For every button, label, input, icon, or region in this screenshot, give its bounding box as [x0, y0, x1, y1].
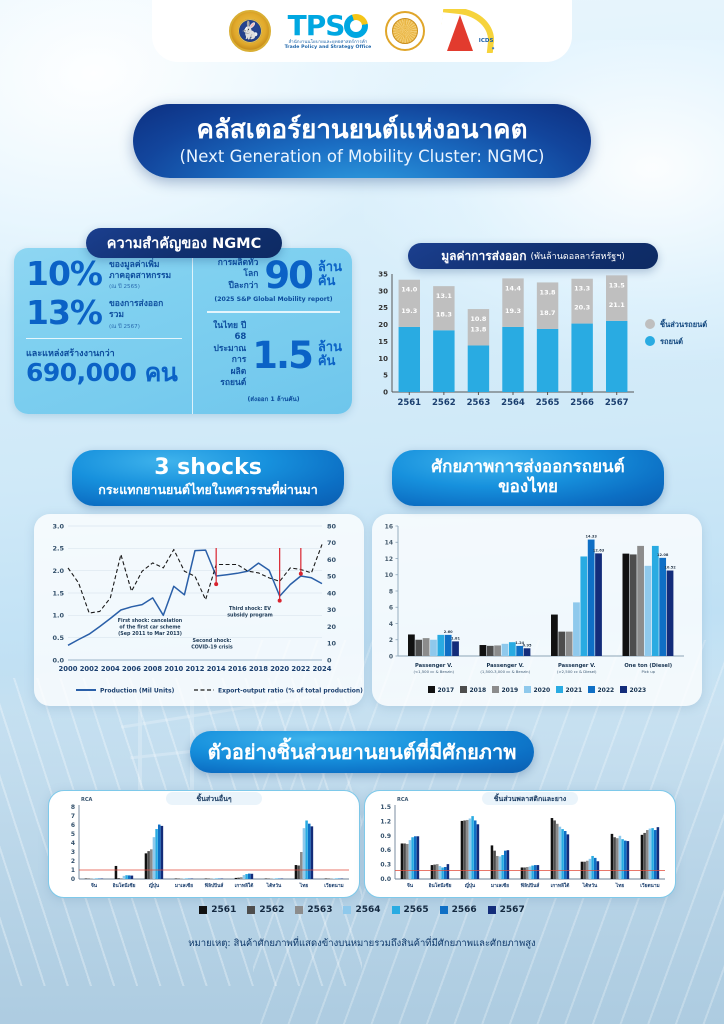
svg-text:12.63: 12.63	[593, 548, 605, 552]
rca-chart-other-parts: RCA012345678ชิ้นส่วนอื่นๆจีนอินโดนีเซียญ…	[49, 791, 361, 899]
svg-text:2.0: 2.0	[52, 567, 64, 575]
svg-text:10.52: 10.52	[664, 566, 676, 570]
svg-text:80: 80	[327, 522, 337, 530]
stat-global-unit2: คัน	[318, 275, 342, 289]
svg-text:2016: 2016	[228, 665, 247, 673]
tpso-subtitle-en: Trade Policy and Strategy Office	[285, 45, 372, 50]
svg-text:16: 16	[385, 523, 393, 530]
svg-text:2567: 2567	[605, 398, 629, 408]
svg-text:2018: 2018	[249, 665, 268, 673]
svg-text:จีน: จีน	[91, 882, 98, 889]
export-value-heading-sub: (พันล้านดอลลาร์สหรัฐฯ)	[531, 249, 625, 263]
svg-text:10: 10	[327, 640, 337, 648]
svg-text:ไต้หวัน: ไต้หวัน	[582, 882, 598, 889]
stat-global-production: การผลิตทั่วโลก ปีละกว่า 90 ล้าน คัน	[205, 258, 342, 292]
legend-label: 2564	[355, 905, 380, 915]
stat-thai-unit2: คัน	[318, 355, 342, 369]
svg-text:5: 5	[71, 831, 75, 838]
svg-text:30: 30	[327, 606, 337, 614]
legend-label: 2561	[211, 905, 236, 915]
svg-text:2019: 2019	[502, 687, 519, 694]
parts-chart-card-plastic: RCA0.00.30.60.91.21.5ชิ้นส่วนพลาสติกและย…	[364, 790, 676, 898]
stat-value-added-label1: ของมูลค่าเพิ่ม	[109, 260, 171, 271]
svg-text:18.7: 18.7	[540, 309, 556, 317]
legend-label: 2567	[500, 905, 525, 915]
legend-swatch	[343, 906, 351, 914]
svg-text:Export-output ratio (% of tota: Export-output ratio (% of total producti…	[218, 688, 363, 695]
svg-text:ญี่ปุ่น: ญี่ปุ่น	[149, 881, 160, 889]
footnote: หมายเหตุ: สินค้าศักยภาพที่แสดงข้างบนหมาย…	[0, 936, 724, 951]
svg-text:3.0: 3.0	[52, 522, 64, 530]
svg-text:จีน: จีน	[407, 882, 414, 889]
svg-text:10: 10	[378, 355, 388, 363]
svg-text:1.5: 1.5	[380, 804, 391, 811]
svg-text:RCA: RCA	[81, 797, 93, 803]
stat-value-added-label2: ภาคอุตสาหกรรม	[109, 271, 171, 282]
icds-label: ICDS	[479, 38, 494, 44]
svg-text:0: 0	[389, 653, 393, 660]
stat-thai-lead3: ผลิตรถยนต์	[205, 367, 246, 390]
svg-text:5: 5	[383, 372, 388, 380]
shocks-heading-main: 3 shocks	[154, 457, 262, 479]
svg-text:2561: 2561	[397, 398, 421, 408]
ministry-seal-icon	[385, 11, 425, 51]
tpso-brand-text: TPS	[288, 9, 345, 42]
svg-text:20: 20	[378, 321, 388, 329]
stat-global-lead1: การผลิตทั่วโลก	[205, 258, 258, 281]
svg-text:4: 4	[389, 621, 393, 628]
parts-legend-item: 2566	[440, 905, 477, 915]
legend-label: 2566	[452, 905, 477, 915]
svg-text:0.3: 0.3	[380, 862, 391, 869]
icds-sublabel: ●	[492, 46, 495, 50]
stats-divider	[26, 338, 182, 340]
svg-text:13.3: 13.3	[574, 285, 590, 293]
potential-heading-line1: ศักยภาพการส่งออกรถยนต์	[431, 458, 624, 478]
svg-text:2008: 2008	[143, 665, 162, 673]
parts-legend-item: 2562	[247, 905, 284, 915]
svg-text:19.3: 19.3	[505, 307, 521, 315]
svg-text:8: 8	[389, 588, 393, 595]
page-title-th: คลัสเตอร์ยานยนต์แห่งอนาคต	[197, 116, 528, 145]
stat-value-added-note: (ณ ปี 2565)	[109, 283, 171, 291]
svg-text:19.3: 19.3	[401, 307, 417, 315]
stat-jobs: และแหล่งสร้างงานกว่า 690,000 คน	[26, 346, 184, 386]
svg-text:2020: 2020	[534, 687, 551, 694]
page-title-en: (Next Generation of Mobility Cluster: NG…	[180, 147, 545, 166]
stat-export-share-label1: ของการส่งออก	[109, 299, 163, 310]
svg-text:4: 4	[71, 840, 75, 847]
svg-text:ชิ้นส่วนรถยนต์: ชิ้นส่วนรถยนต์	[660, 318, 707, 329]
parts-legend-item: 2564	[343, 905, 380, 915]
svg-text:0.95: 0.95	[523, 643, 532, 647]
svg-text:6: 6	[389, 605, 393, 612]
rca-chart-plastic-rubber: RCA0.00.30.60.91.21.5ชิ้นส่วนพลาสติกและย…	[365, 791, 677, 899]
legend-swatch	[247, 906, 255, 914]
svg-text:14.4: 14.4	[505, 284, 522, 292]
svg-text:เกาหลีใต้: เกาหลีใต้	[235, 882, 254, 889]
svg-text:30: 30	[378, 287, 388, 295]
stat-global-source: (2025 S&P Global Mobility report)	[205, 296, 342, 303]
svg-text:0: 0	[383, 389, 388, 397]
svg-text:70: 70	[327, 539, 337, 547]
tpso-logo: TPS สำนักงานนโยบายและยุทธศาสตร์การค้า Tr…	[285, 12, 372, 51]
svg-text:0.6: 0.6	[380, 847, 391, 854]
svg-text:21.1: 21.1	[609, 301, 626, 309]
svg-text:7: 7	[71, 813, 75, 820]
svg-text:2566: 2566	[570, 398, 594, 408]
svg-text:(1,500-3,000 cc & Benzin): (1,500-3,000 cc & Benzin)	[480, 669, 530, 674]
svg-text:2017: 2017	[438, 687, 455, 694]
stat-jobs-value: 690,000 คน	[26, 360, 184, 386]
stat-thai-number: 1.5	[252, 339, 312, 372]
legend-swatch	[392, 906, 400, 914]
stat-global-unit1: ล้าน	[318, 261, 342, 275]
shocks-chart-card: 0.00.51.01.52.02.53.00102030405060708020…	[34, 514, 364, 706]
svg-text:14.33: 14.33	[585, 535, 597, 539]
parts-legend-item: 2567	[488, 905, 525, 915]
svg-text:6: 6	[71, 822, 75, 829]
legend-label: 2565	[404, 905, 429, 915]
svg-text:18.3: 18.3	[436, 310, 452, 318]
svg-text:0.9: 0.9	[380, 833, 391, 840]
svg-text:2562: 2562	[432, 398, 456, 408]
svg-text:2018: 2018	[470, 687, 487, 694]
shocks-heading: 3 shocks กระแทกยานยนต์ไทยในทศวรรษที่ผ่าน…	[72, 450, 344, 506]
stat-global-lead2: ปีละกว่า	[205, 281, 258, 292]
export-value-chart: 0510152025303519.314.0256118.313.1256213…	[366, 266, 716, 421]
svg-text:0.5: 0.5	[52, 634, 64, 642]
svg-text:1.5: 1.5	[52, 589, 64, 597]
legend-label: 2562	[259, 905, 284, 915]
svg-text:2022: 2022	[291, 665, 310, 673]
svg-text:2014: 2014	[207, 665, 226, 673]
page-title: คลัสเตอร์ยานยนต์แห่งอนาคต (Next Generati…	[133, 104, 591, 178]
svg-text:อินโดนีเซีย: อินโดนีเซีย	[428, 882, 451, 889]
thai-garuda-emblem-icon: 🐇	[229, 10, 271, 52]
svg-text:(Sep 2011 to Mar 2013): (Sep 2011 to Mar 2013)	[118, 631, 182, 637]
svg-text:0: 0	[71, 876, 75, 883]
stat-thai-lead2: ประมาณการ	[205, 344, 246, 367]
svg-text:(>2,500 cc & Diesel): (>2,500 cc & Diesel)	[557, 669, 597, 674]
svg-text:14.0: 14.0	[401, 286, 418, 294]
svg-text:10: 10	[385, 572, 393, 579]
svg-text:2020: 2020	[270, 665, 289, 673]
svg-text:60: 60	[327, 556, 337, 564]
svg-text:รถยนต์: รถยนต์	[660, 337, 683, 346]
shocks-chart: 0.00.51.01.52.02.53.00102030405060708020…	[34, 514, 364, 706]
stat-export-share-number: 13%	[26, 297, 102, 328]
svg-text:2012: 2012	[186, 665, 205, 673]
potential-chart: 02468101214162.601.81Passenger V.(<1,500…	[372, 514, 702, 706]
svg-text:2021: 2021	[566, 687, 583, 694]
tpso-o-mark	[344, 14, 368, 38]
svg-text:ญี่ปุ่น: ญี่ปุ่น	[465, 881, 476, 889]
stat-value-added-number: 10%	[26, 258, 102, 289]
legend-swatch	[295, 906, 303, 914]
shocks-heading-sub: กระแทกยานยนต์ไทยในทศวรรษที่ผ่านมา	[98, 480, 317, 500]
importance-stats-panel: 10% ของมูลค่าเพิ่ม ภาคอุตสาหกรรม (ณ ปี 2…	[14, 248, 352, 414]
svg-text:2563: 2563	[467, 398, 491, 408]
svg-text:อินโดนีเซีย: อินโดนีเซีย	[112, 882, 135, 889]
svg-text:ฟิลิปปินส์: ฟิลิปปินส์	[521, 882, 540, 889]
svg-text:2006: 2006	[122, 665, 141, 673]
svg-text:(<1,500 cc & Benzin): (<1,500 cc & Benzin)	[413, 669, 454, 674]
svg-text:3: 3	[71, 849, 75, 856]
svg-text:มาเลเซีย: มาเลเซีย	[491, 882, 509, 889]
importance-heading: ความสำคัญของ NGMC	[86, 228, 282, 258]
svg-text:2000: 2000	[59, 665, 78, 673]
svg-text:Third shock: EV: Third shock: EV	[229, 606, 271, 612]
parts-legend-item: 2565	[392, 905, 429, 915]
svg-text:of the first car scheme: of the first car scheme	[119, 625, 181, 631]
svg-text:12.08: 12.08	[657, 553, 669, 557]
svg-text:2022: 2022	[598, 687, 615, 694]
svg-text:1.81: 1.81	[451, 636, 460, 640]
export-value-heading-main: มูลค่าการส่งออก	[441, 247, 526, 266]
svg-text:2.5: 2.5	[52, 545, 64, 553]
svg-text:13.8: 13.8	[470, 325, 487, 333]
svg-text:35: 35	[378, 271, 388, 279]
svg-text:1.2: 1.2	[380, 818, 391, 825]
stat-global-number: 90	[264, 259, 312, 292]
svg-text:0.0: 0.0	[52, 656, 64, 664]
svg-text:2004: 2004	[101, 665, 120, 673]
svg-text:2002: 2002	[80, 665, 99, 673]
svg-text:8: 8	[71, 804, 75, 811]
parts-heading-text: ตัวอย่างชิ้นส่วนยานยนต์ที่มีศักยภาพ	[208, 736, 517, 768]
svg-text:2: 2	[389, 637, 393, 644]
potential-heading-line2: ของไทย	[498, 478, 558, 498]
legend-swatch	[440, 906, 448, 914]
parts-legend: 2561256225632564256525662567	[0, 905, 724, 915]
svg-text:COVID-19 crisis: COVID-19 crisis	[191, 645, 233, 651]
legend-swatch	[199, 906, 207, 914]
svg-text:ไทย: ไทย	[615, 882, 625, 889]
svg-text:20: 20	[327, 623, 337, 631]
stat-export-share-label2: รวม	[109, 310, 163, 321]
parts-heading: ตัวอย่างชิ้นส่วนยานยนต์ที่มีศักยภาพ	[190, 731, 534, 773]
svg-text:Production (Mil Units): Production (Mil Units)	[100, 688, 175, 695]
svg-text:2.60: 2.60	[444, 630, 453, 634]
svg-text:1.0: 1.0	[52, 612, 64, 620]
svg-text:0.0: 0.0	[380, 876, 391, 883]
potential-heading: ศักยภาพการส่งออกรถยนต์ ของไทย	[392, 450, 664, 506]
svg-text:10.8: 10.8	[470, 315, 487, 323]
svg-text:Second shock:: Second shock:	[193, 638, 232, 644]
stat-value-added: 10% ของมูลค่าเพิ่ม ภาคอุตสาหกรรม (ณ ปี 2…	[26, 258, 184, 291]
logo-bar: 🐇 TPS สำนักงานนโยบายและยุทธศาสตร์การค้า …	[152, 0, 572, 62]
svg-text:2024: 2024	[313, 665, 332, 673]
svg-text:13.8: 13.8	[540, 288, 557, 296]
svg-text:2564: 2564	[501, 398, 525, 408]
svg-text:เวียดนาม: เวียดนาม	[640, 882, 659, 889]
svg-text:2565: 2565	[536, 398, 560, 408]
svg-text:Pick up: Pick up	[641, 669, 655, 674]
stat-thai-unit1: ล้าน	[318, 341, 342, 355]
svg-text:0: 0	[327, 656, 332, 664]
stat-thai-lead1: ในไทย ปี 68	[205, 321, 246, 344]
importance-heading-text: ความสำคัญของ NGMC	[107, 232, 261, 255]
svg-text:50: 50	[327, 573, 337, 581]
icds-logo-icon: ICDS ●	[439, 9, 495, 53]
svg-text:2: 2	[71, 858, 75, 865]
svg-text:13.1: 13.1	[436, 292, 453, 300]
svg-text:ฟิลิปปินส์: ฟิลิปปินส์	[205, 882, 224, 889]
svg-text:2010: 2010	[164, 665, 183, 673]
potential-chart-card: 02468101214162.601.81Passenger V.(<1,500…	[372, 514, 702, 706]
svg-text:2023: 2023	[630, 687, 647, 694]
svg-text:12: 12	[385, 556, 393, 563]
parts-legend-item: 2561	[199, 905, 236, 915]
svg-text:14: 14	[385, 540, 393, 547]
svg-text:เกาหลีใต้: เกาหลีใต้	[551, 882, 570, 889]
svg-text:40: 40	[327, 589, 337, 597]
svg-text:ไต้หวัน: ไต้หวัน	[266, 882, 282, 889]
svg-text:25: 25	[378, 304, 388, 312]
svg-text:ไทย: ไทย	[299, 882, 309, 889]
parts-legend-item: 2563	[295, 905, 332, 915]
svg-text:15: 15	[378, 338, 388, 346]
svg-text:20.3: 20.3	[574, 304, 590, 312]
stat-export-share: 13% ของการส่งออก รวม (ณ ปี 2567)	[26, 297, 184, 330]
svg-text:เวียดนาม: เวียดนาม	[324, 882, 343, 889]
stat-export-share-note: (ณ ปี 2567)	[109, 323, 163, 331]
stat-thai-production: ในไทย ปี 68 ประมาณการ ผลิตรถยนต์ 1.5 ล้า…	[205, 321, 342, 390]
legend-swatch	[488, 906, 496, 914]
svg-text:มาเลเซีย: มาเลเซีย	[175, 882, 193, 889]
svg-text:subsidy program: subsidy program	[227, 613, 273, 619]
svg-text:1: 1	[71, 867, 75, 874]
legend-label: 2563	[307, 905, 332, 915]
stat-thai-source: (ส่งออก 1 ล้านคัน)	[205, 394, 342, 404]
svg-text:RCA: RCA	[397, 797, 409, 803]
svg-text:First shock: cancelation: First shock: cancelation	[118, 618, 183, 624]
svg-text:13.5: 13.5	[609, 281, 626, 289]
parts-chart-card-other: RCA012345678ชิ้นส่วนอื่นๆจีนอินโดนีเซียญ…	[48, 790, 360, 898]
